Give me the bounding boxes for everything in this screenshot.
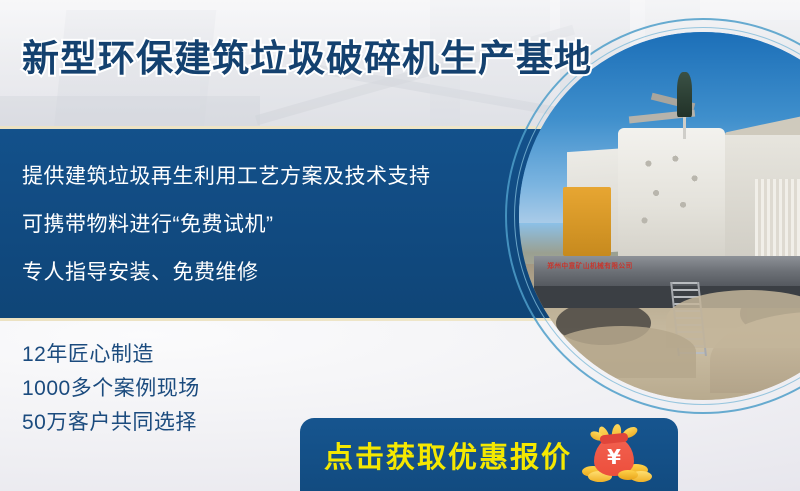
highlight-line-2: 可携带物料进行“免费试机” <box>22 201 431 249</box>
cta-button-label: 点击获取优惠报价 <box>324 434 572 476</box>
highlight-list: 提供建筑垃圾再生利用工艺方案及技术支持 可携带物料进行“免费试机” 专人指导安装… <box>22 153 431 297</box>
highlight-line-3: 专人指导安装、免费维修 <box>22 249 431 297</box>
stats-list: 12年匠心制造 1000多个案例现场 50万客户共同选择 <box>22 338 200 440</box>
stats-line-3: 50万客户共同选择 <box>22 406 200 440</box>
stats-line-1: 12年匠心制造 <box>22 338 200 372</box>
highlight-line-1: 提供建筑垃圾再生利用工艺方案及技术支持 <box>22 153 431 201</box>
cta-button[interactable]: 点击获取优惠报价 <box>300 418 678 491</box>
money-bag-icon <box>580 426 654 484</box>
stats-line-2: 1000多个案例现场 <box>22 372 200 406</box>
page-title: 新型环保建筑垃圾破碎机生产基地 <box>22 40 592 77</box>
promo-banner: 郑州中意矿山机械有限公司 新型环保建筑垃圾破碎机生产基地 提供建筑垃圾再生利用工… <box>0 0 800 491</box>
